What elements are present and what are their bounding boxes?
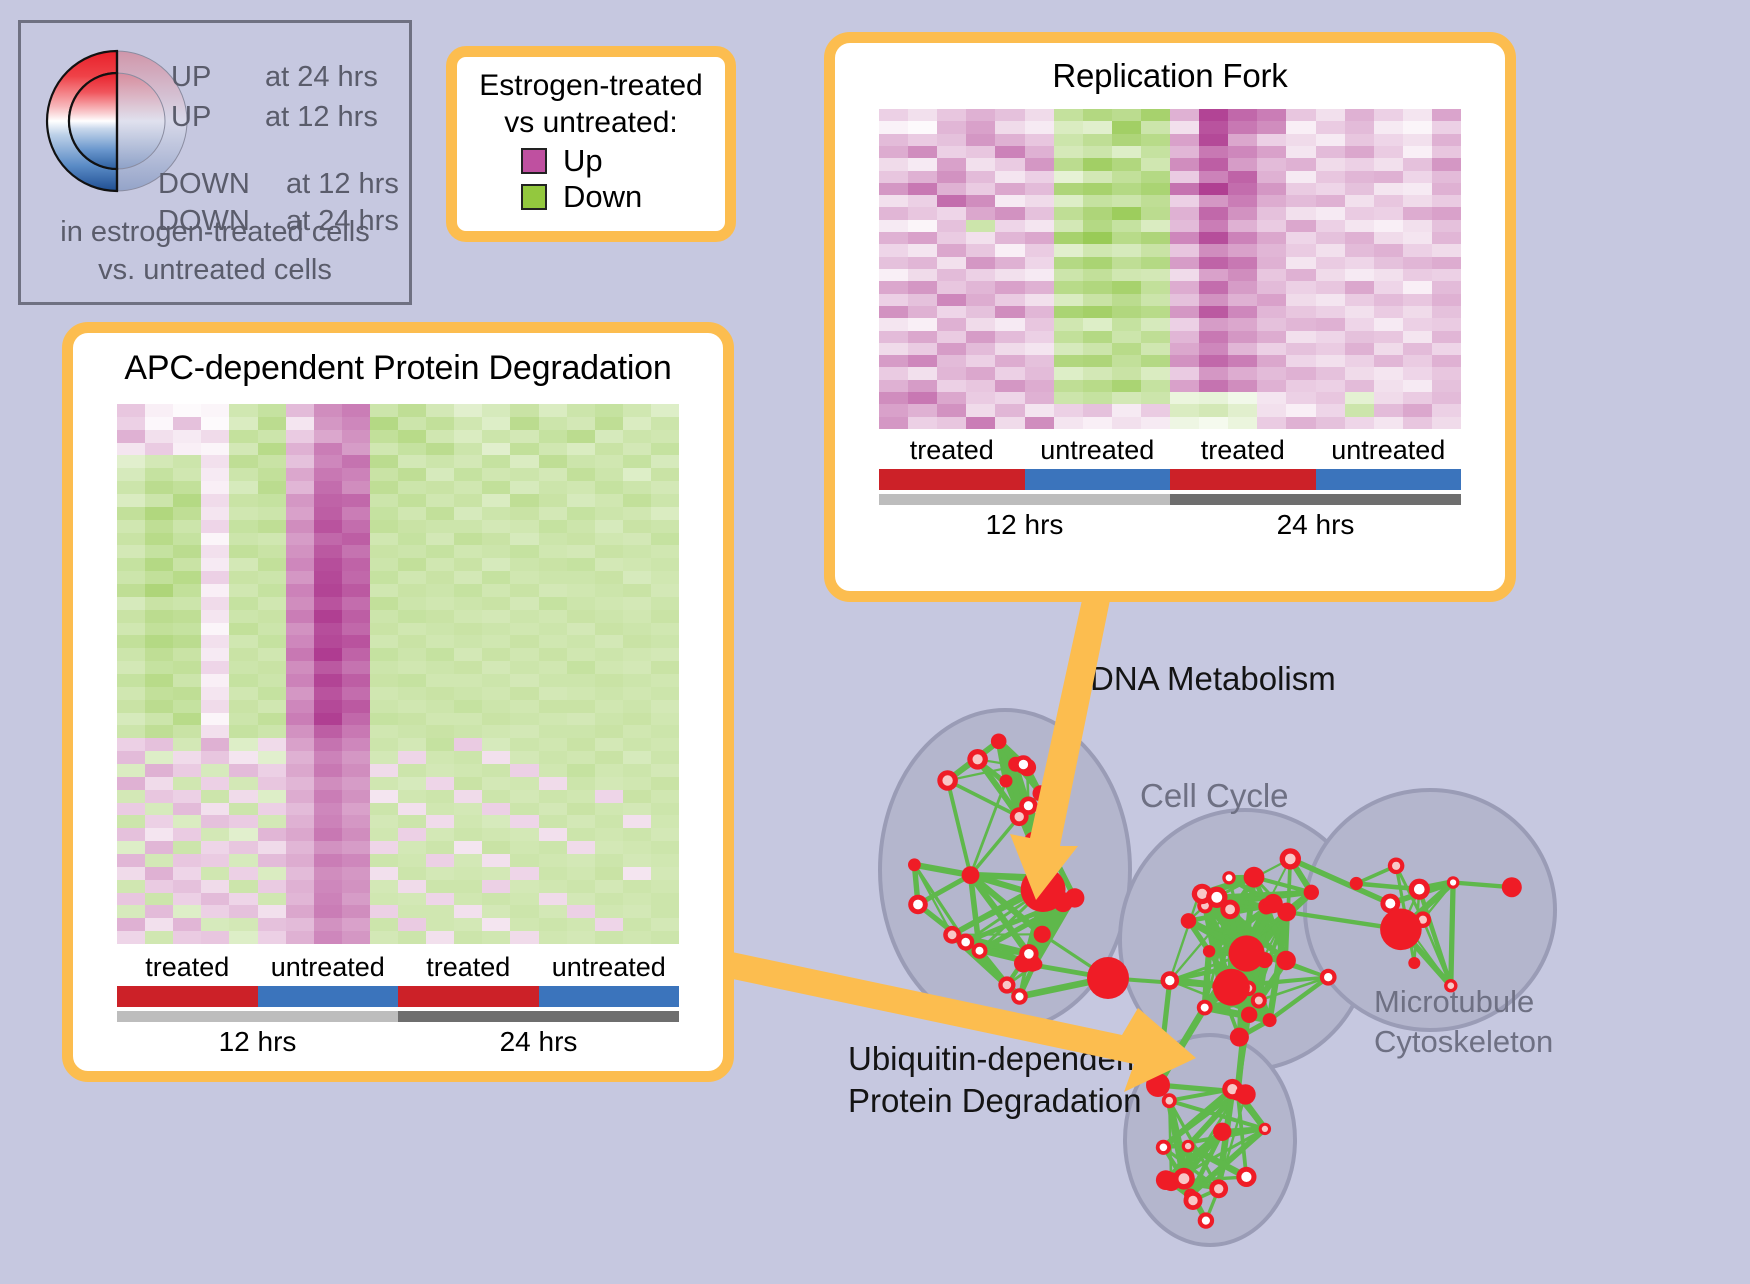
- legend-item-up: Up: [521, 145, 725, 177]
- apc-panel-title: APC-dependent Protein Degradation: [73, 349, 723, 388]
- apc-cond-2: untreated: [258, 952, 399, 983]
- key-label-down-12: DOWN: [158, 168, 250, 201]
- legend-title-line-1: Estrogen-treated: [457, 67, 725, 104]
- legend-title: Estrogen-treated vs untreated:: [457, 67, 725, 141]
- rf-condition-bar: [879, 469, 1461, 490]
- legend-item-down: Down: [521, 181, 725, 213]
- apc-condition-labels: treated untreated treated untreated: [117, 952, 679, 983]
- cluster-label-microtubule-cytoskeleton: Microtubule Cytoskeleton: [1374, 982, 1553, 1062]
- legend-panel: Estrogen-treated vs untreated: Up Down: [446, 46, 736, 242]
- key-time-up-12: at 12 hrs: [265, 101, 378, 134]
- rf-cond-1: treated: [879, 435, 1025, 466]
- key-time-down-12: at 12 hrs: [286, 168, 399, 201]
- apc-timepoint-labels: 12 hrs 24 hrs: [117, 1026, 679, 1058]
- network-svg: [790, 620, 1750, 1279]
- apc-condition-bar: [117, 986, 679, 1007]
- caption-line-2: vs. untreated cells: [21, 251, 409, 289]
- key-label-up-24: UP: [171, 61, 211, 94]
- rf-timepoint-bar: [879, 494, 1461, 505]
- legend-label-down: Down: [563, 181, 642, 213]
- rf-time-2: 24 hrs: [1170, 509, 1461, 541]
- color-key-box: UP at 24 hrs UP at 12 hrs DOWN at 12 hrs…: [18, 20, 412, 305]
- color-key-caption: in estrogen-treated cells vs. untreated …: [21, 213, 409, 289]
- cluster-label-ubiquitin-protein-degradation: Ubiquitin-dependent Protein Degradation: [848, 1038, 1143, 1122]
- rf-cond-2: untreated: [1025, 435, 1171, 466]
- rf-time-1: 12 hrs: [879, 509, 1170, 541]
- replication-fork-heatmap: [879, 109, 1461, 429]
- rf-timepoint-labels: 12 hrs 24 hrs: [879, 509, 1461, 541]
- key-time-up-24: at 24 hrs: [265, 61, 378, 94]
- rf-cond-4: untreated: [1316, 435, 1462, 466]
- legend-swatch-down-icon: [521, 184, 547, 210]
- caption-line-1: in estrogen-treated cells: [21, 213, 409, 251]
- apc-degradation-panel: APC-dependent Protein Degradation treate…: [62, 322, 734, 1082]
- apc-time-2: 24 hrs: [398, 1026, 679, 1058]
- apc-time-1: 12 hrs: [117, 1026, 398, 1058]
- rf-cond-3: treated: [1170, 435, 1316, 466]
- replication-fork-panel: Replication Fork treated untreated treat…: [824, 32, 1516, 602]
- replication-fork-title: Replication Fork: [835, 57, 1505, 95]
- key-label-up-12: UP: [171, 101, 211, 134]
- rf-condition-labels: treated untreated treated untreated: [879, 435, 1461, 466]
- apc-heatmap: [117, 404, 679, 944]
- legend-swatch-up-icon: [521, 148, 547, 174]
- apc-cond-4: untreated: [539, 952, 680, 983]
- apc-timepoint-bar: [117, 1011, 679, 1022]
- apc-cond-3: treated: [398, 952, 539, 983]
- apc-cond-1: treated: [117, 952, 258, 983]
- pathway-network-diagram: DNA Metabolism Cell Cycle Microtubule Cy…: [790, 620, 1750, 1279]
- legend-label-up: Up: [563, 145, 603, 177]
- legend-title-line-2: vs untreated:: [457, 104, 725, 141]
- cluster-label-cell-cycle: Cell Cycle: [1140, 777, 1289, 815]
- cluster-label-dna-metabolism: DNA Metabolism: [1090, 660, 1336, 698]
